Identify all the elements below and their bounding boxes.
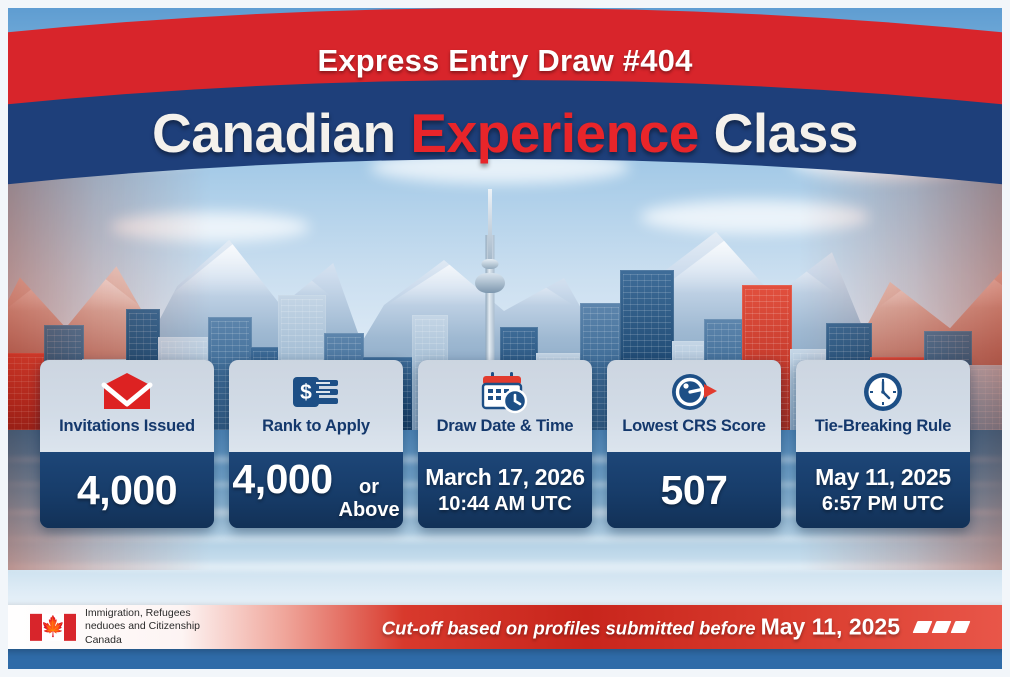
card-value-secondary: 6:57 PM UTC bbox=[822, 492, 944, 516]
banknotes-icon: $ bbox=[290, 366, 342, 418]
card-value-area: March 17, 2026 10:44 AM UTC bbox=[418, 452, 592, 528]
card-label: Draw Date & Time bbox=[433, 418, 578, 435]
maple-leaf-icon: 🍁 bbox=[41, 617, 66, 637]
card-value-area: 4,000 bbox=[40, 452, 214, 528]
header-banner bbox=[0, 0, 1010, 200]
page-title: Canadian Experience Class bbox=[0, 101, 1010, 165]
card-lowest-crs-score: Lowest CRS Score 507 bbox=[607, 360, 781, 528]
card-header: $ Rank to Apply bbox=[229, 360, 403, 452]
ircc-line-1: Immigration, Refugees bbox=[85, 607, 200, 620]
card-label: Tie-Breaking Rule bbox=[811, 418, 956, 435]
card-value: 4,000 bbox=[77, 470, 177, 511]
calendar-clock-icon bbox=[479, 366, 531, 418]
card-value-area: May 11, 2025 6:57 PM UTC bbox=[796, 452, 970, 528]
card-value-suffix: or Above bbox=[339, 476, 400, 522]
draw-number-headline: Express Entry Draw #404 bbox=[0, 43, 1010, 79]
card-label: Lowest CRS Score bbox=[618, 418, 770, 435]
card-invitations-issued: Invitations Issued 4,000 bbox=[40, 360, 214, 528]
cutoff-note: Cut-off based on profiles submitted befo… bbox=[382, 614, 900, 641]
svg-text:$: $ bbox=[300, 381, 312, 404]
ircc-logo: 🍁 Immigration, Refugees neduoes and Citi… bbox=[30, 607, 200, 647]
card-value: May 11, 2025 bbox=[815, 464, 951, 491]
card-value: 4,000 bbox=[232, 459, 332, 500]
canada-flag-icon: 🍁 bbox=[30, 614, 76, 641]
card-value: 507 bbox=[661, 470, 728, 511]
clock-icon bbox=[859, 366, 907, 418]
title-highlight: Experience bbox=[410, 102, 699, 164]
ircc-line-3: Canada bbox=[85, 634, 200, 647]
ircc-wordmark: Immigration, Refugees neduoes and Citize… bbox=[85, 607, 200, 647]
ircc-line-2: neduoes and Citizenship bbox=[85, 620, 200, 633]
card-value-secondary: 10:44 AM UTC bbox=[438, 492, 572, 516]
card-header: Invitations Issued bbox=[40, 360, 214, 452]
footer-bar: 🍁 Immigration, Refugees neduoes and Citi… bbox=[0, 605, 1010, 649]
card-value-area: 4,000 or Above bbox=[229, 452, 403, 528]
card-value-area: 507 bbox=[607, 452, 781, 528]
envelope-icon bbox=[100, 366, 154, 418]
cutoff-note-date: May 11, 2025 bbox=[761, 614, 900, 640]
infographic-poster: Express Entry Draw #404 Canadian Experie… bbox=[0, 0, 1010, 677]
chevron-stripes-icon bbox=[915, 621, 968, 633]
card-rank-to-apply: $ Rank to Apply 4,000 or Above bbox=[229, 360, 403, 528]
card-draw-date-time: Draw Date & Time March 17, 2026 10:44 AM… bbox=[418, 360, 592, 528]
card-tie-breaking-rule: Tie-Breaking Rule May 11, 2025 6:57 PM U… bbox=[796, 360, 970, 528]
title-part-1: Canadian bbox=[152, 102, 410, 164]
gauge-icon bbox=[667, 366, 721, 418]
card-label: Rank to Apply bbox=[258, 418, 374, 435]
cutoff-note-text: Cut-off based on profiles submitted befo… bbox=[382, 618, 756, 639]
card-header: Draw Date & Time bbox=[418, 360, 592, 452]
card-header: Tie-Breaking Rule bbox=[796, 360, 970, 452]
card-label: Invitations Issued bbox=[55, 418, 199, 435]
card-value: March 17, 2026 bbox=[425, 464, 584, 491]
title-part-2: Class bbox=[699, 102, 858, 164]
stats-card-row: Invitations Issued 4,000 $ bbox=[40, 360, 970, 528]
card-header: Lowest CRS Score bbox=[607, 360, 781, 452]
